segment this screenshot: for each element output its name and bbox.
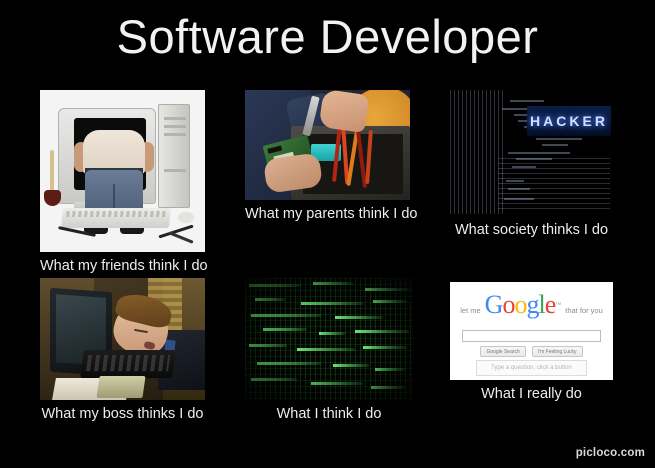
lmgtfy-hint: Type a question, click a button xyxy=(476,360,587,376)
panel-caption: What my boss thinks I do xyxy=(40,400,205,425)
google-letter-o2: o xyxy=(514,290,526,319)
panel-society-image: HACKER xyxy=(448,88,615,216)
panel-think-image xyxy=(245,278,413,400)
panel-really: let me Google™ that for you Google Searc… xyxy=(450,282,613,405)
google-logo: Google™ xyxy=(485,292,562,318)
feeling-lucky-button[interactable]: I'm Feeling Lucky xyxy=(532,346,583,357)
panel-caption: What society thinks I do xyxy=(448,216,615,241)
panel-caption: What my parents think I do xyxy=(245,200,410,225)
watermark: picloco.com xyxy=(576,447,645,459)
calculator-icon xyxy=(96,376,145,398)
google-letter-g2: g xyxy=(526,290,538,319)
plunger-handle xyxy=(50,150,54,194)
upper-hand xyxy=(319,90,370,133)
google-letter-o1: o xyxy=(502,290,514,319)
panel-parents-image xyxy=(245,90,410,200)
keyboard-icon xyxy=(61,208,171,228)
google-letter-g: G xyxy=(485,290,503,319)
google-letter-e: e xyxy=(545,290,556,319)
keyboard-icon xyxy=(80,350,176,378)
trademark-symbol: ™ xyxy=(555,303,561,309)
computer-tower-icon xyxy=(158,104,190,208)
google-search-button[interactable]: Google Search xyxy=(480,346,525,357)
lmgtfy-page: let me Google™ that for you Google Searc… xyxy=(450,282,613,380)
lmgtfy-post-text: that for you xyxy=(565,306,603,315)
mouse-icon xyxy=(178,212,194,223)
panel-caption: What I think I do xyxy=(245,400,413,425)
panel-think: What I think I do xyxy=(245,278,413,425)
lmgtfy-pre-text: let me xyxy=(460,306,480,315)
meme-image: Software Developer What my fri xyxy=(0,0,655,468)
hacker-banner: HACKER xyxy=(527,106,611,136)
panel-caption: What I really do xyxy=(450,380,613,405)
panel-boss: What my boss thinks I do xyxy=(40,278,205,425)
panel-friends: What my friends think I do xyxy=(40,90,205,277)
vignette-overlay xyxy=(245,278,413,400)
code-block xyxy=(498,158,610,212)
panel-boss-image xyxy=(40,278,205,400)
panel-really-image: let me Google™ that for you Google Searc… xyxy=(450,282,613,380)
page-title: Software Developer xyxy=(0,6,655,68)
panel-society: HACKER What society thinks I do xyxy=(448,88,615,241)
hacker-label: HACKER xyxy=(530,113,608,129)
search-buttons-row: Google Search I'm Feeling Lucky xyxy=(450,346,613,357)
search-input[interactable] xyxy=(462,330,601,342)
panel-friends-image xyxy=(40,90,205,252)
panel-parents: What my parents think I do xyxy=(245,90,410,225)
lmgtfy-logo-row: let me Google™ that for you xyxy=(450,292,613,318)
panel-caption: What my friends think I do xyxy=(40,252,205,277)
